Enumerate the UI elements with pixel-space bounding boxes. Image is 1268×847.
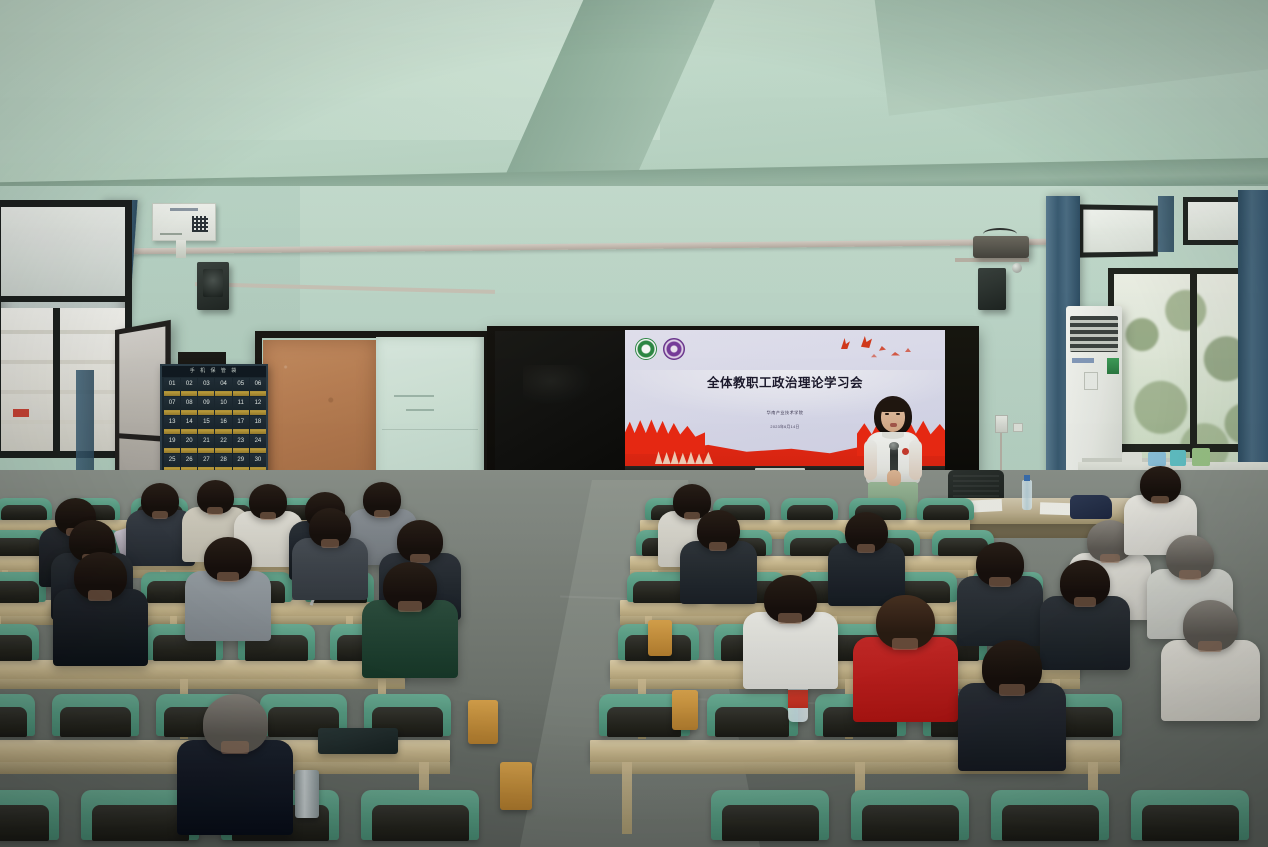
chair-backrest-pad [1,505,48,521]
audience-neck [221,741,250,754]
audience-neck [709,542,728,551]
corridor-rail [1,330,125,334]
chair-backrest-pad [1142,805,1239,841]
whiteboard-mark [406,409,434,411]
audience-body [53,589,148,666]
window-open-pane-glass [119,326,165,485]
desk-front-panel [0,679,405,689]
phone-board-header: 手 机 保 管 袋 [162,366,266,377]
audience-neck [374,510,391,518]
phone-pocket-cell[interactable]: 10 [215,397,231,415]
presenter-arm-right [909,440,922,480]
phone-pocket-cell[interactable]: 02 [181,378,197,396]
counter-item-teal [1170,450,1186,466]
phone-pocket-cell[interactable]: 23 [233,435,249,453]
audience-neck [152,511,169,519]
corridor-rail [1,420,125,424]
phone-pocket-cell[interactable]: 20 [181,435,197,453]
presenter-mouth [890,423,897,427]
audience-neck [207,507,223,514]
chair-backrest-pad [722,805,819,841]
corridor-rail [1,390,125,394]
audience-neck [684,512,701,520]
phone-pocket-cell[interactable]: 16 [215,416,231,434]
chair-backrest-pad [0,805,49,841]
wall-speaker-left [197,262,229,310]
phone-pocket-cell[interactable]: 15 [198,416,214,434]
chair-backrest-pad [787,505,834,521]
chair-backrest-pad [0,581,39,603]
audience-neck [88,590,111,601]
sign-footer-bar [160,233,182,235]
phone-pocket-cell[interactable]: 07 [164,397,180,415]
blackboard-panel-right [945,330,979,470]
dome-camera-icon [1012,263,1022,273]
presenter-collar [882,432,904,439]
classroom-photo: 手 机 保 管 袋 010203040506070809101112131415… [0,0,1268,847]
folding-seat[interactable] [500,762,532,810]
window-right-transom-a [1078,204,1158,257]
ac-display-panel[interactable] [1084,372,1098,390]
window-mullion [53,308,60,458]
microphone-head-icon [889,442,899,450]
wall-control-plate[interactable] [995,415,1008,433]
phone-pocket-cell[interactable]: 21 [198,435,214,453]
desk-leg [622,762,632,834]
ac-brand-mark [1072,358,1094,363]
chair-backrest-pad [607,707,682,737]
green-emblem-logo-icon [635,338,657,360]
phone-pocket-cell[interactable]: 03 [198,378,214,396]
phone-pocket-cell[interactable]: 13 [164,416,180,434]
audience-body [743,612,838,689]
wall-sign-qr [152,203,216,241]
ac-energy-label [1107,358,1119,374]
ac-grille-icon [1070,316,1118,352]
audience-body [177,740,293,835]
audience-neck [999,684,1025,696]
whiteboard [376,337,484,489]
presenter-shirt-logo-icon [902,448,909,455]
wall-sign-mount [176,240,186,258]
phone-pocket-cell[interactable]: 12 [250,397,266,415]
audience-neck [989,577,1010,587]
whiteboard-seam [382,429,478,430]
window-left [0,200,132,458]
wall-rail-right [955,258,1029,262]
presenter-hands [887,470,901,486]
audience-neck [398,601,422,612]
sign-header-bar [170,208,198,211]
corridor-rail [1,360,125,364]
water-bottle-desk [1022,480,1032,510]
audience-neck [1074,597,1096,607]
audience-neck [1151,496,1169,504]
purple-emblem-logo-icon [663,338,685,360]
chair-backrest-pad [862,805,959,841]
phone-pocket-cell[interactable]: 11 [233,397,249,415]
wallet-on-desk [318,728,398,754]
phone-pocket-cell[interactable]: 17 [233,416,249,434]
wall-speaker-right [978,268,1006,310]
chair-backrest-pad [1002,805,1099,841]
phone-pocket-cell[interactable]: 24 [250,435,266,453]
wall-switch-plate[interactable] [1013,423,1023,432]
phone-pocket-cell[interactable]: 04 [215,378,231,396]
phone-board-grid: 0102030405060708091011121314151617181920… [164,378,266,472]
window-left-upper-pane [1,207,125,302]
presenter-fringe [878,400,908,412]
phone-pocket-cell[interactable]: 05 [233,378,249,396]
phone-pocket-cell[interactable]: 14 [181,416,197,434]
audience-neck [892,638,918,650]
audience-neck [260,512,277,520]
chair-backrest-pad [715,707,790,737]
presenter-arm-left [864,440,877,480]
audience-neck [321,539,339,548]
chair-backrest-pad [0,635,32,661]
whiteboard-mark [394,395,434,397]
navy-bag-on-desk [1070,495,1112,519]
audience-neck [778,613,801,624]
audience-neck [217,572,238,582]
folding-seat[interactable] [468,700,498,744]
folding-seat[interactable] [648,620,672,656]
chair-backrest-pad [372,805,469,841]
counter-item-white [1122,452,1142,464]
blackboard-panel [495,331,625,470]
audience-neck [1179,570,1200,580]
chair-backrest-pad [923,505,970,521]
phone-pocket-cell[interactable]: 22 [215,435,231,453]
bottle-label [788,690,808,708]
ceiling-projector [973,236,1029,258]
folding-seat[interactable] [672,690,698,730]
chair-backrest-pad [0,538,42,556]
thermos-cup [295,770,319,818]
qr-code-icon [192,216,208,232]
curtain-right-small[interactable] [1158,196,1174,252]
chair-backrest-pad [0,707,27,737]
phone-pocket-cell[interactable]: 19 [164,435,180,453]
slide-title: 全体教职工政治理论学习会 [625,372,945,391]
audience-neck [1100,554,1120,563]
window-left-corridor-view [1,308,125,458]
flying-birds-decoration-icon [835,334,923,362]
presenter-eye-left [885,413,889,415]
audience-body [958,683,1066,771]
chair-backrest-pad [92,805,189,841]
audience-neck [857,544,876,553]
bottle-cap [1024,475,1030,481]
phone-pocket-cell[interactable]: 09 [198,397,214,415]
corridor-red-object [13,409,29,417]
phone-pocket-cell[interactable]: 01 [164,378,180,396]
counter-item-green [1192,448,1210,466]
phone-pocket-cell[interactable]: 08 [181,397,197,415]
chair-backrest-pad [60,707,131,737]
wooden-notice-panel [263,340,376,490]
counter-item-blue [1148,452,1166,466]
phone-pocket-cell[interactable]: 06 [250,378,266,396]
audience-body [1040,596,1130,670]
presenter-eye-right [896,413,900,415]
phone-pocket-cell[interactable]: 18 [250,416,266,434]
audience-neck [1198,641,1222,652]
